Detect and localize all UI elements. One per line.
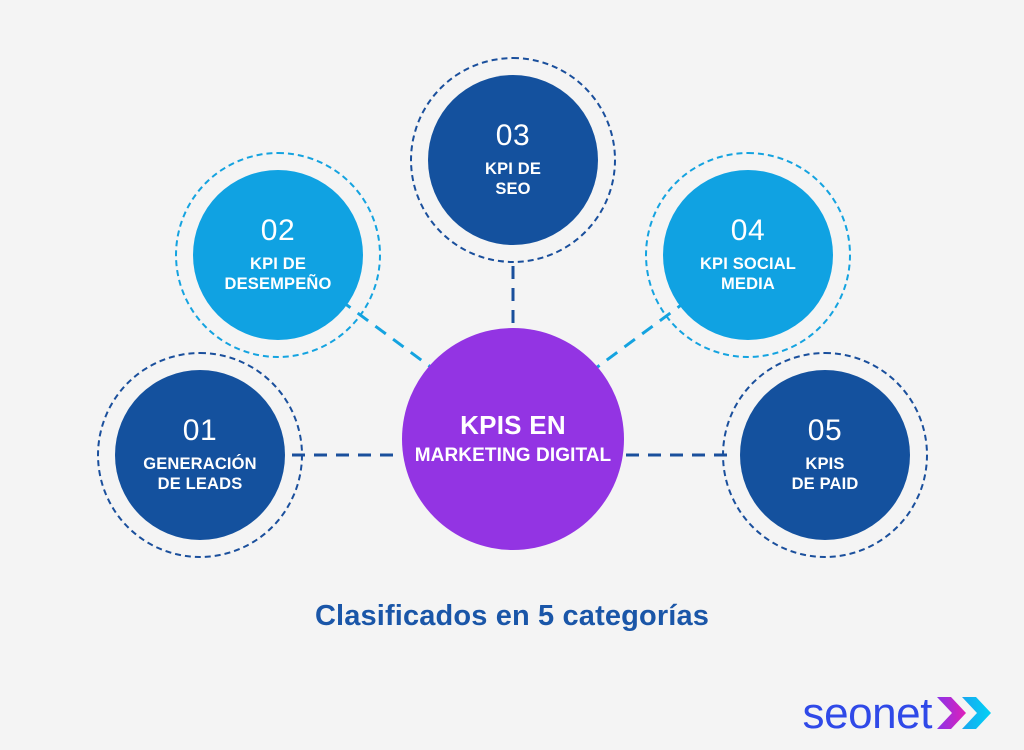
node-number-02: 02 — [261, 216, 296, 246]
node-number-05: 05 — [808, 416, 843, 446]
node-circle-03[interactable]: 03 KPI DE SEO — [428, 75, 598, 245]
hub-circle[interactable]: KPIS EN MARKETING DIGITAL — [402, 328, 624, 550]
node-label-05-line1: KPIS — [805, 455, 844, 473]
node-circle-04[interactable]: 04 KPI SOCIAL MEDIA — [663, 170, 833, 340]
node-label-04: KPI SOCIAL MEDIA — [700, 255, 796, 294]
node-label-02-line1: KPI DE — [250, 255, 306, 273]
node-label-02-line2: DESEMPEÑO — [225, 275, 332, 293]
node-label-01-line2: DE LEADS — [158, 475, 243, 493]
seonet-logo: seonet — [803, 692, 994, 736]
infographic-canvas: 01 GENERACIÓN DE LEADS 02 KPI DE DESEMPE… — [0, 0, 1024, 750]
node-label-03-line2: SEO — [495, 180, 530, 198]
node-label-02: KPI DE DESEMPEÑO — [225, 255, 332, 294]
node-number-03: 03 — [496, 121, 531, 151]
node-circle-05[interactable]: 05 KPIS DE PAID — [740, 370, 910, 540]
node-label-04-line2: MEDIA — [721, 275, 775, 293]
node-label-05: KPIS DE PAID — [792, 455, 859, 494]
node-label-05-line2: DE PAID — [792, 475, 859, 493]
node-circle-01[interactable]: 01 GENERACIÓN DE LEADS — [115, 370, 285, 540]
double-chevron-icon — [936, 693, 994, 733]
node-label-04-line1: KPI SOCIAL — [700, 255, 796, 273]
caption-text: Clasificados en 5 categorías — [0, 600, 1024, 633]
node-label-03-line1: KPI DE — [485, 160, 541, 178]
node-number-04: 04 — [731, 216, 766, 246]
node-number-01: 01 — [183, 416, 218, 446]
node-circle-02[interactable]: 02 KPI DE DESEMPEÑO — [193, 170, 363, 340]
node-label-03: KPI DE SEO — [485, 160, 541, 199]
hub-title: KPIS EN — [460, 411, 566, 440]
hub-subtitle: MARKETING DIGITAL — [415, 446, 612, 467]
node-label-01-line1: GENERACIÓN — [143, 455, 257, 473]
node-label-01: GENERACIÓN DE LEADS — [143, 455, 257, 494]
logo-wordmark: seonet — [803, 692, 932, 736]
